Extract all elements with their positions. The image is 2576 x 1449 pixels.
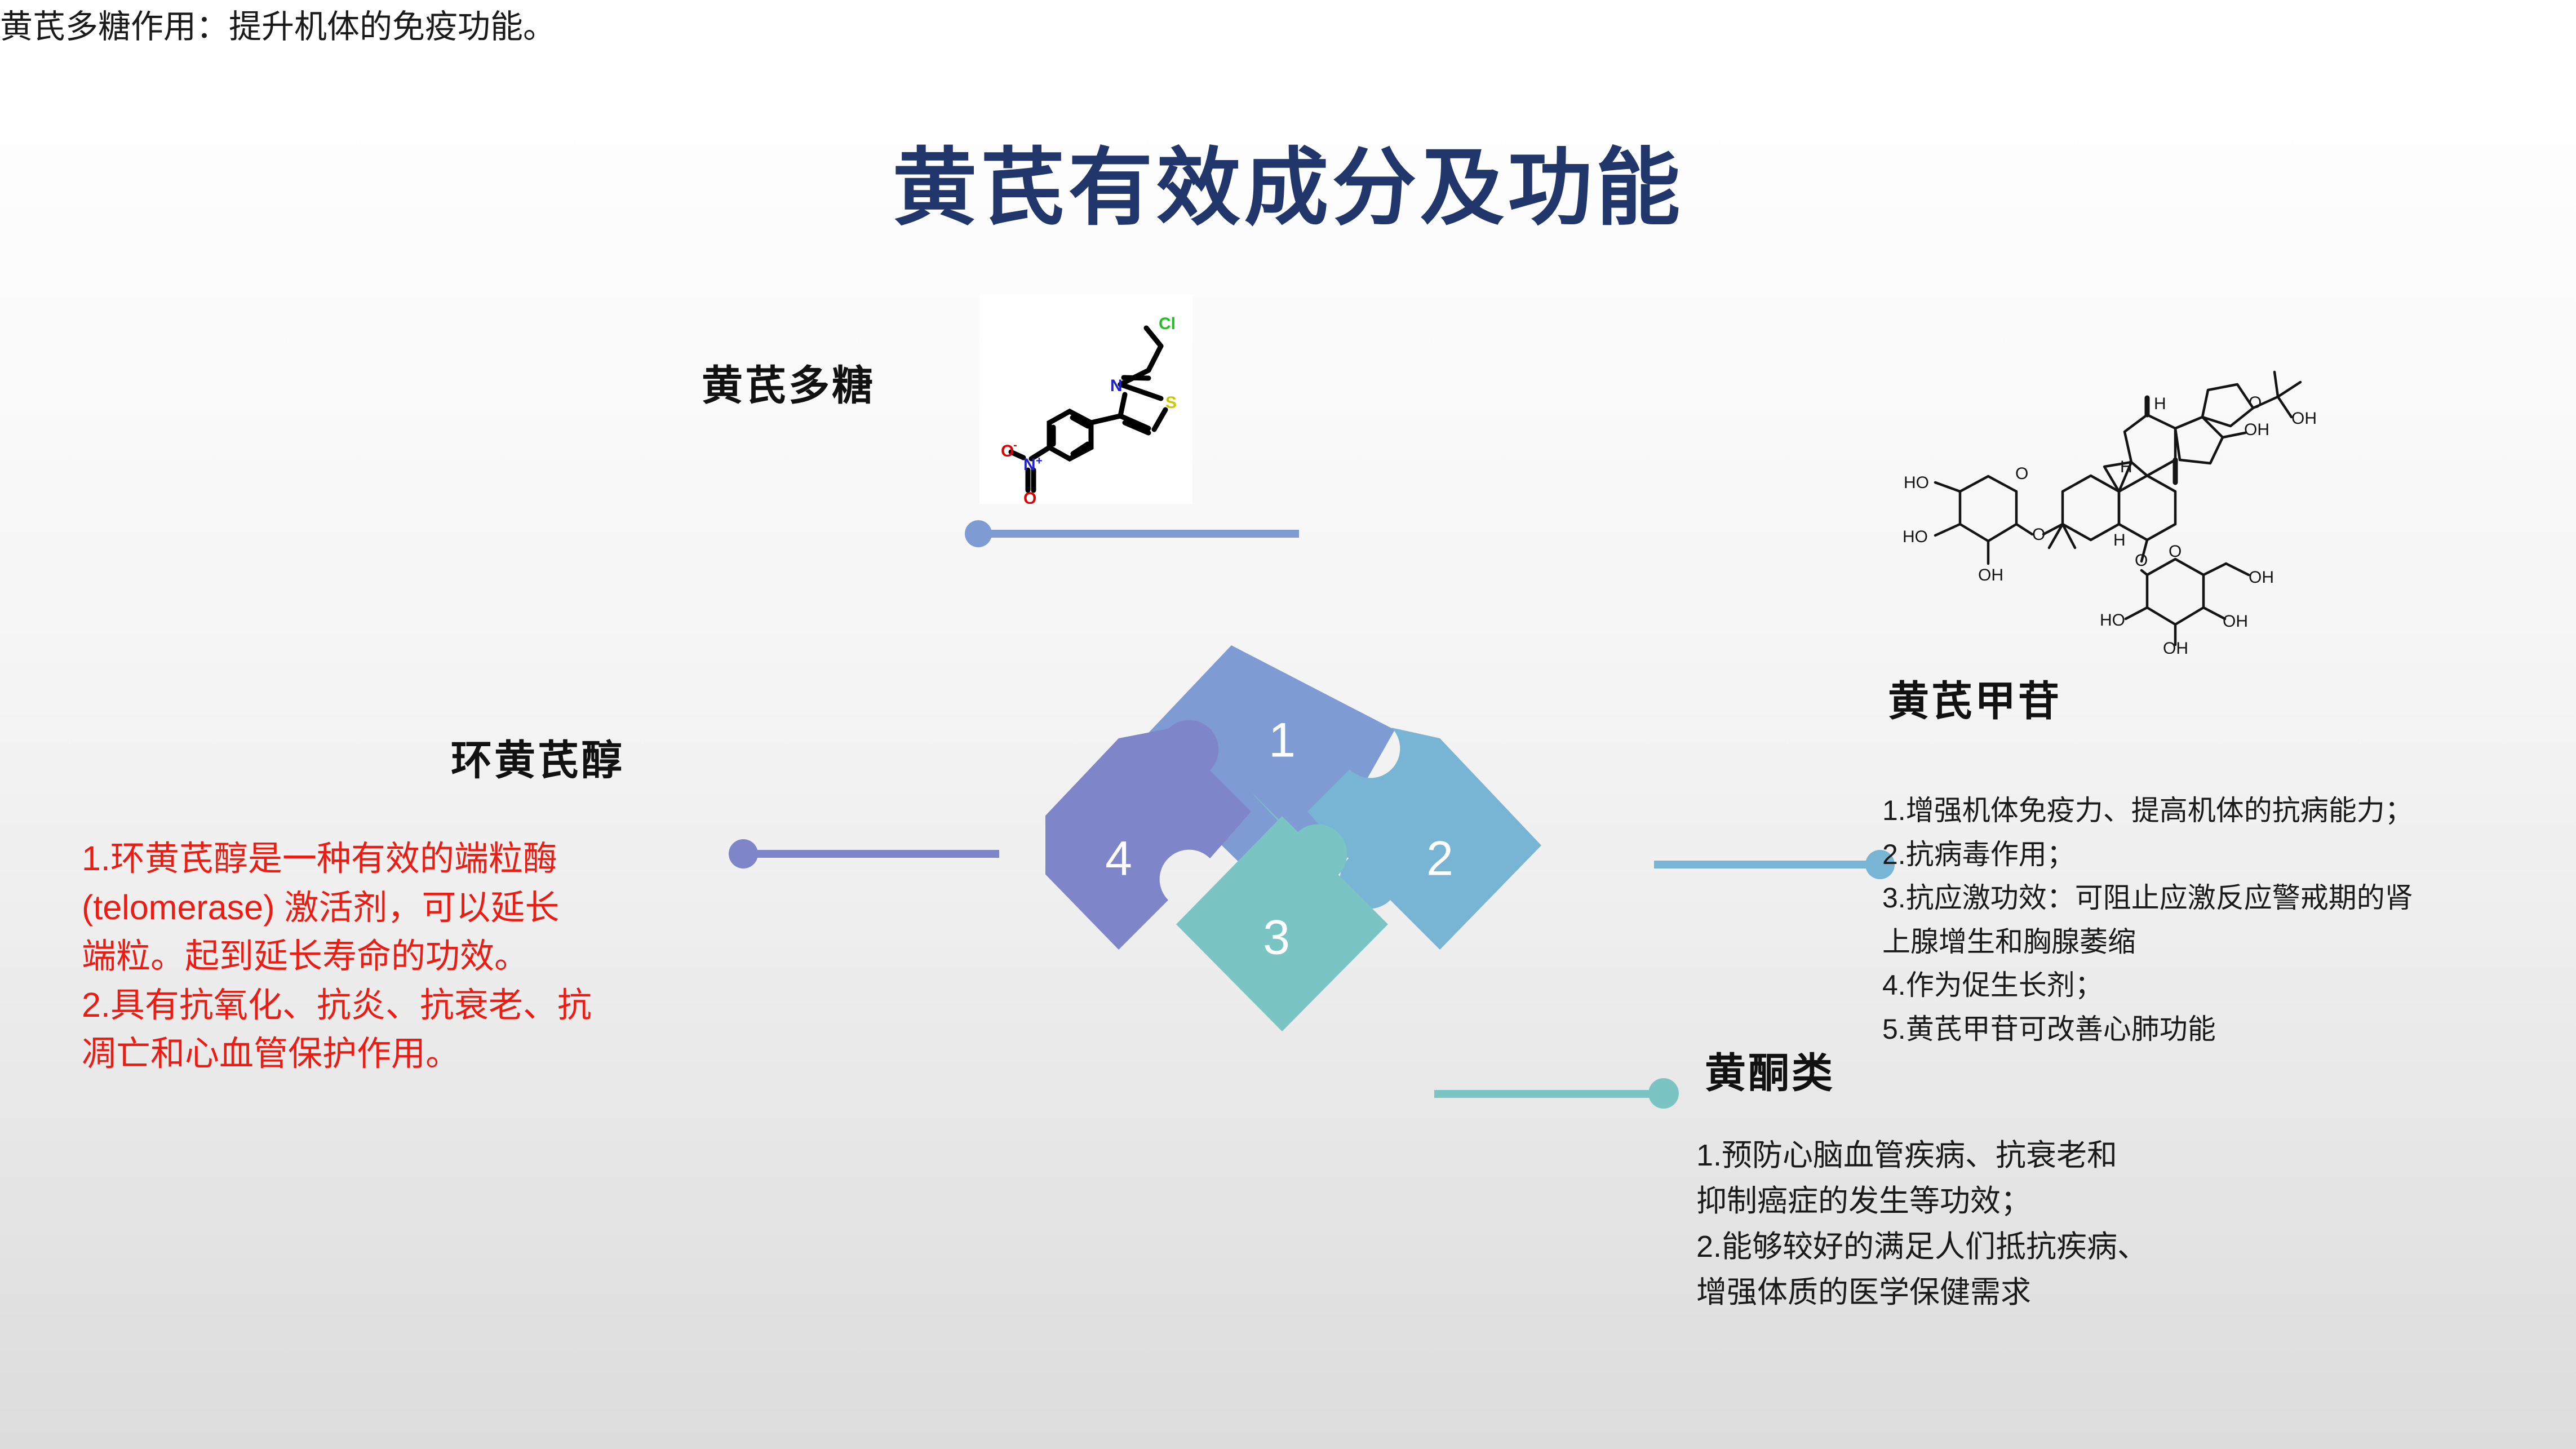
atom-label-oh-1: OH — [1978, 566, 2003, 584]
atom-label-h-3: H — [2113, 531, 2126, 550]
chemical-structure-thiazole-image: Cl N S O - N + O — [979, 294, 1192, 504]
connector-dot-1 — [965, 520, 992, 547]
puzzle-piece-4-number: 4 — [1105, 832, 1132, 886]
text-cycloastragenol: 1.环黄芪醇是一种有效的端粒酶 (telomerase) 激活剂，可以延长 端粒… — [82, 834, 752, 1078]
text-astragaloside: 1.增强机体免疫力、提高机体的抗病能力； 2.抗病毒作用； 3.抗应激功效：可阻… — [1882, 789, 2570, 1051]
connector-line-2 — [1654, 861, 1888, 868]
heading-flavonoids: 黄酮类 — [1705, 1051, 1835, 1096]
slide-root: 黄芪有效成分及功能 — [0, 0, 2576, 1449]
puzzle-piece-1-number: 1 — [1269, 714, 1296, 768]
atom-label-o2: O — [1023, 489, 1036, 504]
connector-line-4 — [743, 850, 999, 858]
atom-label-oh-4: OH — [2249, 568, 2274, 587]
chemical-structure-astragaloside-image: HO HO OH O O OH OH O O O OH HO OH OH H H… — [1877, 338, 2344, 654]
atom-label-ho-3: HO — [2100, 611, 2125, 630]
atom-label-h-2: H — [2120, 458, 2132, 476]
page-title: 黄芪有效成分及功能 — [0, 144, 2576, 233]
atom-label-o-glyco2: O — [2135, 551, 2148, 570]
puzzle-diagram: 1 2 3 4 — [1045, 473, 1615, 1234]
text-polysaccharide: 黄芪多糖作用：提升机体的免疫功能。 — [0, 0, 2576, 47]
atom-label-oh-2: OH — [2244, 420, 2269, 439]
atom-label-cl: Cl — [1159, 314, 1176, 333]
atom-label-o-ring1: O — [2015, 464, 2028, 483]
atom-label-o-glyco: O — [2032, 525, 2045, 544]
heading-astragaloside: 黄芪甲苷 — [1888, 679, 2061, 724]
atom-label-n2: N — [1023, 455, 1036, 474]
heading-polysaccharide: 黄芪多糖 — [702, 364, 875, 409]
connector-dot-3 — [1648, 1078, 1679, 1109]
svg-text:-: - — [1013, 439, 1017, 451]
atom-label-ho-2: HO — [1903, 528, 1928, 546]
puzzle-piece-2-number: 2 — [1426, 832, 1453, 886]
atom-label-oh-3: OH — [2291, 409, 2317, 428]
svg-text:+: + — [1036, 455, 1043, 467]
atom-label-o-thf: O — [2249, 393, 2262, 412]
puzzle-piece-3-number: 3 — [1263, 911, 1290, 965]
atom-label-o-ring2: O — [2169, 542, 2182, 561]
atom-label-ho-1: HO — [1904, 473, 1929, 492]
atom-label-h-1: H — [2154, 395, 2166, 413]
atom-label-s: S — [1165, 393, 1177, 412]
atom-label-oh-6: OH — [2163, 639, 2188, 654]
heading-cycloastragenol: 环黄芪醇 — [451, 738, 624, 783]
atom-label-oh-5: OH — [2223, 612, 2248, 631]
atom-label-n: N — [1110, 376, 1123, 395]
text-flavonoids: 1.预防心脑血管疾病、抗衰老和 抑制癌症的发生等功效； 2.能够较好的满足人们抵… — [1696, 1133, 2401, 1315]
atom-label-o-minus: O — [1001, 442, 1014, 460]
